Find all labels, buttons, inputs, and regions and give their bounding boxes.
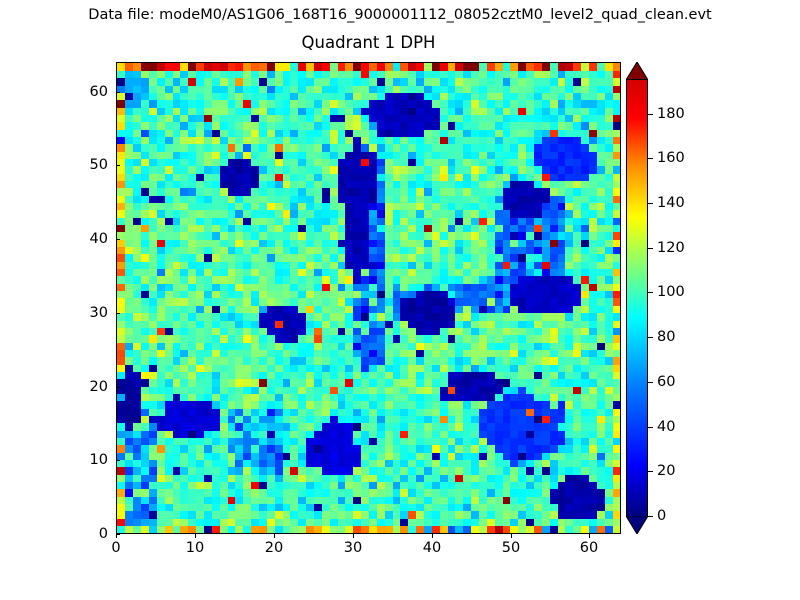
data-file-label: Data file: modeM0/AS1G06_168T16_90000011… [0,6,800,24]
y-axis-tick [116,239,120,240]
y-axis-tick [116,387,120,388]
colorbar-tick-label: 160 [657,150,685,166]
colorbar-tick-label: 120 [657,240,685,256]
y-axis-tick-label: 60 [68,84,108,100]
colorbar-tick [648,516,653,517]
plot-title: Quadrant 1 DPH [116,33,621,53]
colorbar-tick [648,337,653,338]
colorbar-tick [648,158,653,159]
colorbar-tick-label: 0 [657,508,666,524]
x-axis-tick-label: 10 [186,540,204,556]
colorbar-tick [648,114,653,115]
x-axis-tick-label: 0 [111,540,120,556]
colorbar-tick [648,248,653,249]
y-axis-tick [116,534,120,535]
y-axis-tick-label: 30 [68,305,108,321]
x-axis-tick [511,534,512,538]
colorbar-tick-label: 40 [657,419,675,435]
x-axis-tick-label: 50 [502,540,520,556]
y-axis-tick [116,313,120,314]
colorbar-tick [648,382,653,383]
heatmap-image[interactable] [117,63,620,533]
colorbar-tick-label: 20 [657,463,675,479]
x-axis-tick [432,534,433,538]
x-axis-tick [589,534,590,538]
colorbar-tick-label: 80 [657,329,675,345]
y-axis-tick [116,460,120,461]
colorbar[interactable]: 020406080100120140160180 [626,62,648,534]
y-axis-tick-label: 40 [68,231,108,247]
colorbar-extend-low-arrow-icon [626,516,648,534]
colorbar-extend-high-arrow-icon [626,62,648,80]
colorbar-gradient [626,79,648,517]
colorbar-tick-label: 180 [657,106,685,122]
y-axis-tick-label: 20 [68,379,108,395]
y-axis-tick-label: 0 [68,526,108,542]
colorbar-tick [648,292,653,293]
y-axis-tick-label: 10 [68,452,108,468]
x-axis-tick [195,534,196,538]
x-axis-tick [274,534,275,538]
y-axis-tick-label: 50 [68,157,108,173]
colorbar-tick-label: 140 [657,195,685,211]
heatmap-axes[interactable] [116,62,621,534]
colorbar-tick-label: 60 [657,374,675,390]
y-axis-tick [116,165,120,166]
matplotlib-figure: Data file: modeM0/AS1G06_168T16_90000011… [0,0,800,600]
colorbar-tick [648,471,653,472]
colorbar-tick [648,427,653,428]
x-axis-tick-label: 20 [265,540,283,556]
x-axis-tick-label: 30 [344,540,362,556]
x-axis-tick [353,534,354,538]
colorbar-tick [648,203,653,204]
x-axis-tick-label: 60 [580,540,598,556]
x-axis-tick-label: 40 [423,540,441,556]
colorbar-tick-label: 100 [657,284,685,300]
y-axis-tick [116,92,120,93]
